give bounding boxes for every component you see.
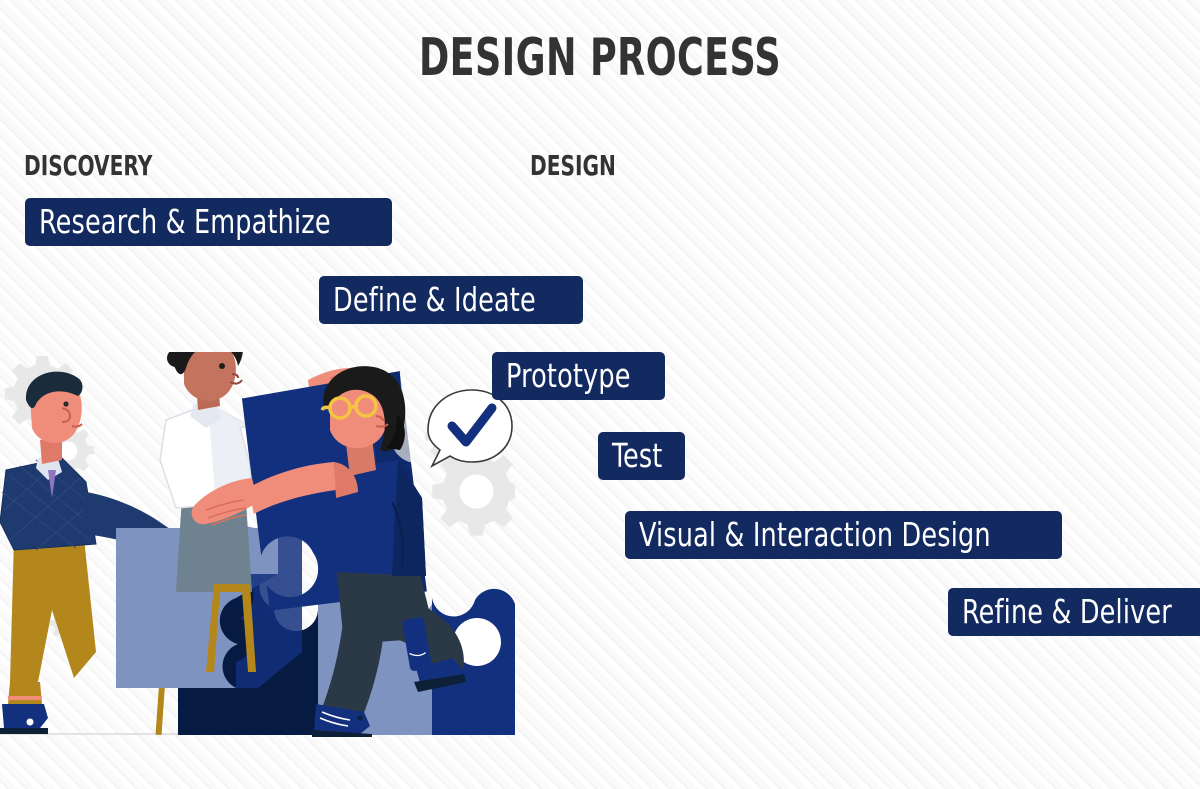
phase-header-discovery: DISCOVERY [24, 152, 152, 180]
step-chip-define-ideate[interactable]: Define & Ideate [319, 276, 583, 324]
step-chip-test[interactable]: Test [598, 432, 685, 480]
step-chip-refine-deliver[interactable]: Refine & Deliver [948, 588, 1200, 636]
step-chip-research-empathize[interactable]: Research & Empathize [25, 198, 392, 246]
step-label: Research & Empathize [39, 198, 331, 246]
step-label: Define & Ideate [333, 276, 536, 324]
step-label: Refine & Deliver [962, 588, 1172, 636]
teamwork-puzzle-illustration [0, 352, 515, 737]
step-label: Visual & Interaction Design [639, 511, 991, 559]
step-label: Prototype [506, 352, 631, 400]
step-label: Test [612, 432, 662, 480]
page-title: DESIGN PROCESS [132, 32, 1068, 84]
step-chip-visual-interaction-design[interactable]: Visual & Interaction Design [625, 511, 1062, 559]
step-chip-prototype[interactable]: Prototype [492, 352, 665, 400]
speech-bubble-checkmark [428, 390, 512, 466]
phase-header-design: DESIGN [530, 152, 616, 180]
